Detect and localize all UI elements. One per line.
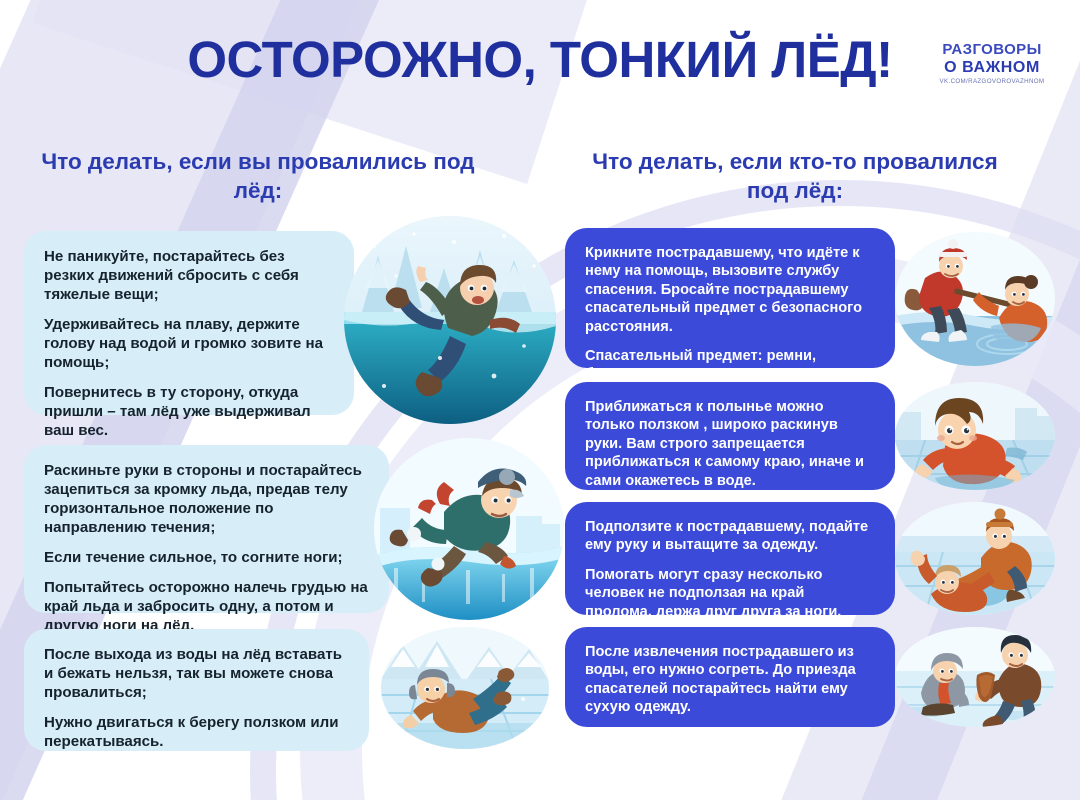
- illustration-boy-climbing-onto-ice-edge: [374, 438, 564, 620]
- advice-paragraph: Повернитесь в ту сторону, откуда пришли …: [44, 383, 334, 440]
- advice-card-right-4: После извлечения пострадавшего из воды, …: [565, 627, 895, 727]
- advice-card-left-2: Раскиньте руки в стороны и постарайтесь …: [24, 445, 389, 613]
- advice-paragraph: Нужно двигаться к берегу ползком или пер…: [44, 713, 349, 751]
- advice-card-right-2: Приближаться к полынье можно только полз…: [565, 382, 895, 490]
- advice-paragraph: Не паникуйте, постарайтесь без резких дв…: [44, 247, 334, 304]
- advice-paragraph: Помогать могут сразу несколько человек н…: [585, 566, 875, 621]
- illustration-boy-crawling-spread-arms: [895, 382, 1055, 490]
- logo-line-1: РАЗГОВОРЫ: [918, 42, 1066, 58]
- advice-card-left-3: После выхода из воды на лёд вставать и б…: [24, 629, 369, 751]
- advice-paragraph: Если течение сильное, то согните ноги;: [44, 548, 369, 567]
- advice-paragraph: После выхода из воды на лёд вставать и б…: [44, 645, 349, 702]
- advice-card-right-1: Крикните пострадавшему, что идёте к нему…: [565, 228, 895, 368]
- brand-logo: РАЗГОВОРЫ О ВАЖНОМ VK.COM/RAZGOVOROVAZHN…: [918, 42, 1066, 86]
- illustration-rescuer-pulling-victim: [895, 502, 1055, 615]
- right-column-heading: Что делать, если кто-то провалился под л…: [570, 148, 1020, 206]
- advice-paragraph: Спасательный предмет: ремни, большие вет…: [585, 347, 875, 384]
- advice-paragraph: Подползите к пострадавшему, подайте ему …: [585, 518, 875, 555]
- illustration-boy-falling-through-ice: [344, 216, 556, 424]
- left-column-heading: Что делать, если вы провалились под лёд:: [38, 148, 478, 206]
- advice-paragraph: Раскиньте руки в стороны и постарайтесь …: [44, 461, 369, 537]
- logo-url: VK.COM/RAZGOVOROVAZHNOM: [918, 79, 1066, 86]
- advice-paragraph: После извлечения пострадавшего из воды, …: [585, 643, 875, 717]
- logo-line-2: О ВАЖНОМ: [918, 59, 1066, 76]
- advice-paragraph: Приближаться к полынье можно только полз…: [585, 398, 875, 490]
- infographic-poster: ОСТОРОЖНО, ТОНКИЙ ЛЁД! РАЗГОВОРЫ О ВАЖНО…: [0, 0, 1080, 800]
- illustration-child-passing-pole-to-victim: [895, 232, 1055, 366]
- advice-paragraph: Крикните пострадавшему, что идёте к нему…: [585, 244, 875, 336]
- advice-paragraph: Удерживайтесь на плаву, держите голову н…: [44, 315, 334, 372]
- advice-card-right-3: Подползите к пострадавшему, подайте ему …: [565, 502, 895, 615]
- advice-card-left-1: Не паникуйте, постарайтесь без резких дв…: [24, 231, 354, 415]
- advice-paragraph: Попытайтесь осторожно налечь грудью на к…: [44, 578, 369, 635]
- illustration-bringing-dry-clothes: [895, 627, 1055, 727]
- illustration-boy-crawling-on-ice: [381, 627, 549, 749]
